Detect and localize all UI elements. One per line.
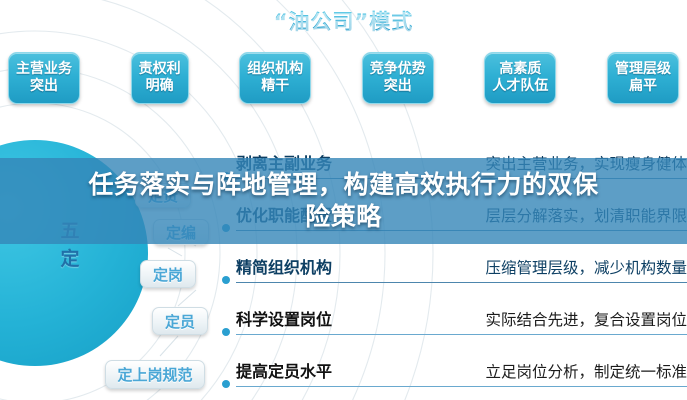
pill-ding-shang-gang-gui-fan[interactable]: 定上岗规范 [105,360,205,389]
headline-line2: 险策略 [305,202,382,231]
capsule-3-line2: 突出 [384,78,412,95]
pill-ding-gang[interactable]: 定岗 [140,260,196,288]
capsule-5-line1: 管理层级 [615,61,671,78]
pill-4-label: 定上岗规范 [117,364,192,385]
list-item[interactable]: 精简组织机构 压缩管理层级，减少机构数量 [222,242,687,294]
capsule-item-0[interactable]: 主营业务 突出 [8,52,80,104]
capsule-3-line1: 竞争优势 [370,61,426,78]
capsule-row: 主营业务 突出 责权利 明确 组织机构 精干 竞争优势 突出 高素质 人才队伍 … [8,52,679,104]
list-item[interactable]: 科学设置岗位 实际结合先进，复合设置岗位 [222,294,687,346]
capsule-4-line2: 人才队伍 [492,78,548,95]
slide-canvas: “油公司”模式 主营业务 突出 责权利 明确 组织机构 精干 竞争优势 突出 高… [0,0,687,400]
capsule-0-line1: 主营业务 [16,61,72,78]
headline-text: 任务落实与阵地管理，构建高效执行力的双保 险策略 [0,169,687,233]
row-2-key: 精简组织机构 [236,254,332,278]
capsule-item-4[interactable]: 高素质 人才队伍 [484,52,556,104]
row-4-value: 立足岗位分析，制定统一标准 [485,360,687,382]
row-3-value: 实际结合先进，复合设置岗位 [485,308,687,330]
pill-2-label: 定岗 [153,264,183,285]
bullet-icon [222,328,230,336]
capsule-5-line2: 扁平 [629,78,657,95]
headline-overlay-banner: 任务落实与阵地管理，构建高效执行力的双保 险策略 [0,158,687,244]
headline-line1: 任务落实与阵地管理，构建高效执行力的双保 [88,170,598,199]
capsule-0-line2: 突出 [30,78,58,95]
capsule-2-line1: 组织机构 [247,61,303,78]
pill-ding-yuan[interactable]: 定员 [152,307,208,335]
capsule-item-1[interactable]: 责权利 明确 [131,52,189,104]
capsule-1-line2: 明确 [146,78,174,95]
capsule-4-line1: 高素质 [499,61,541,78]
capsule-item-2[interactable]: 组织机构 精干 [239,52,311,104]
capsule-1-line1: 责权利 [139,61,181,78]
capsule-item-3[interactable]: 竞争优势 突出 [362,52,434,104]
capsule-item-5[interactable]: 管理层级 扁平 [607,52,679,104]
circle-label-line2: 定 [47,246,93,274]
list-item[interactable]: 提高定员水平 立足岗位分析，制定统一标准 [222,346,687,398]
capsule-2-line2: 精干 [261,78,289,95]
page-title: “油公司”模式 [0,6,687,36]
row-2-value: 压缩管理层级，减少机构数量 [485,256,687,278]
pill-3-label: 定员 [165,311,195,332]
bullet-icon [222,276,230,284]
row-3-key: 科学设置岗位 [236,306,332,330]
row-4-key: 提高定员水平 [236,358,332,382]
bullet-icon [222,380,230,388]
